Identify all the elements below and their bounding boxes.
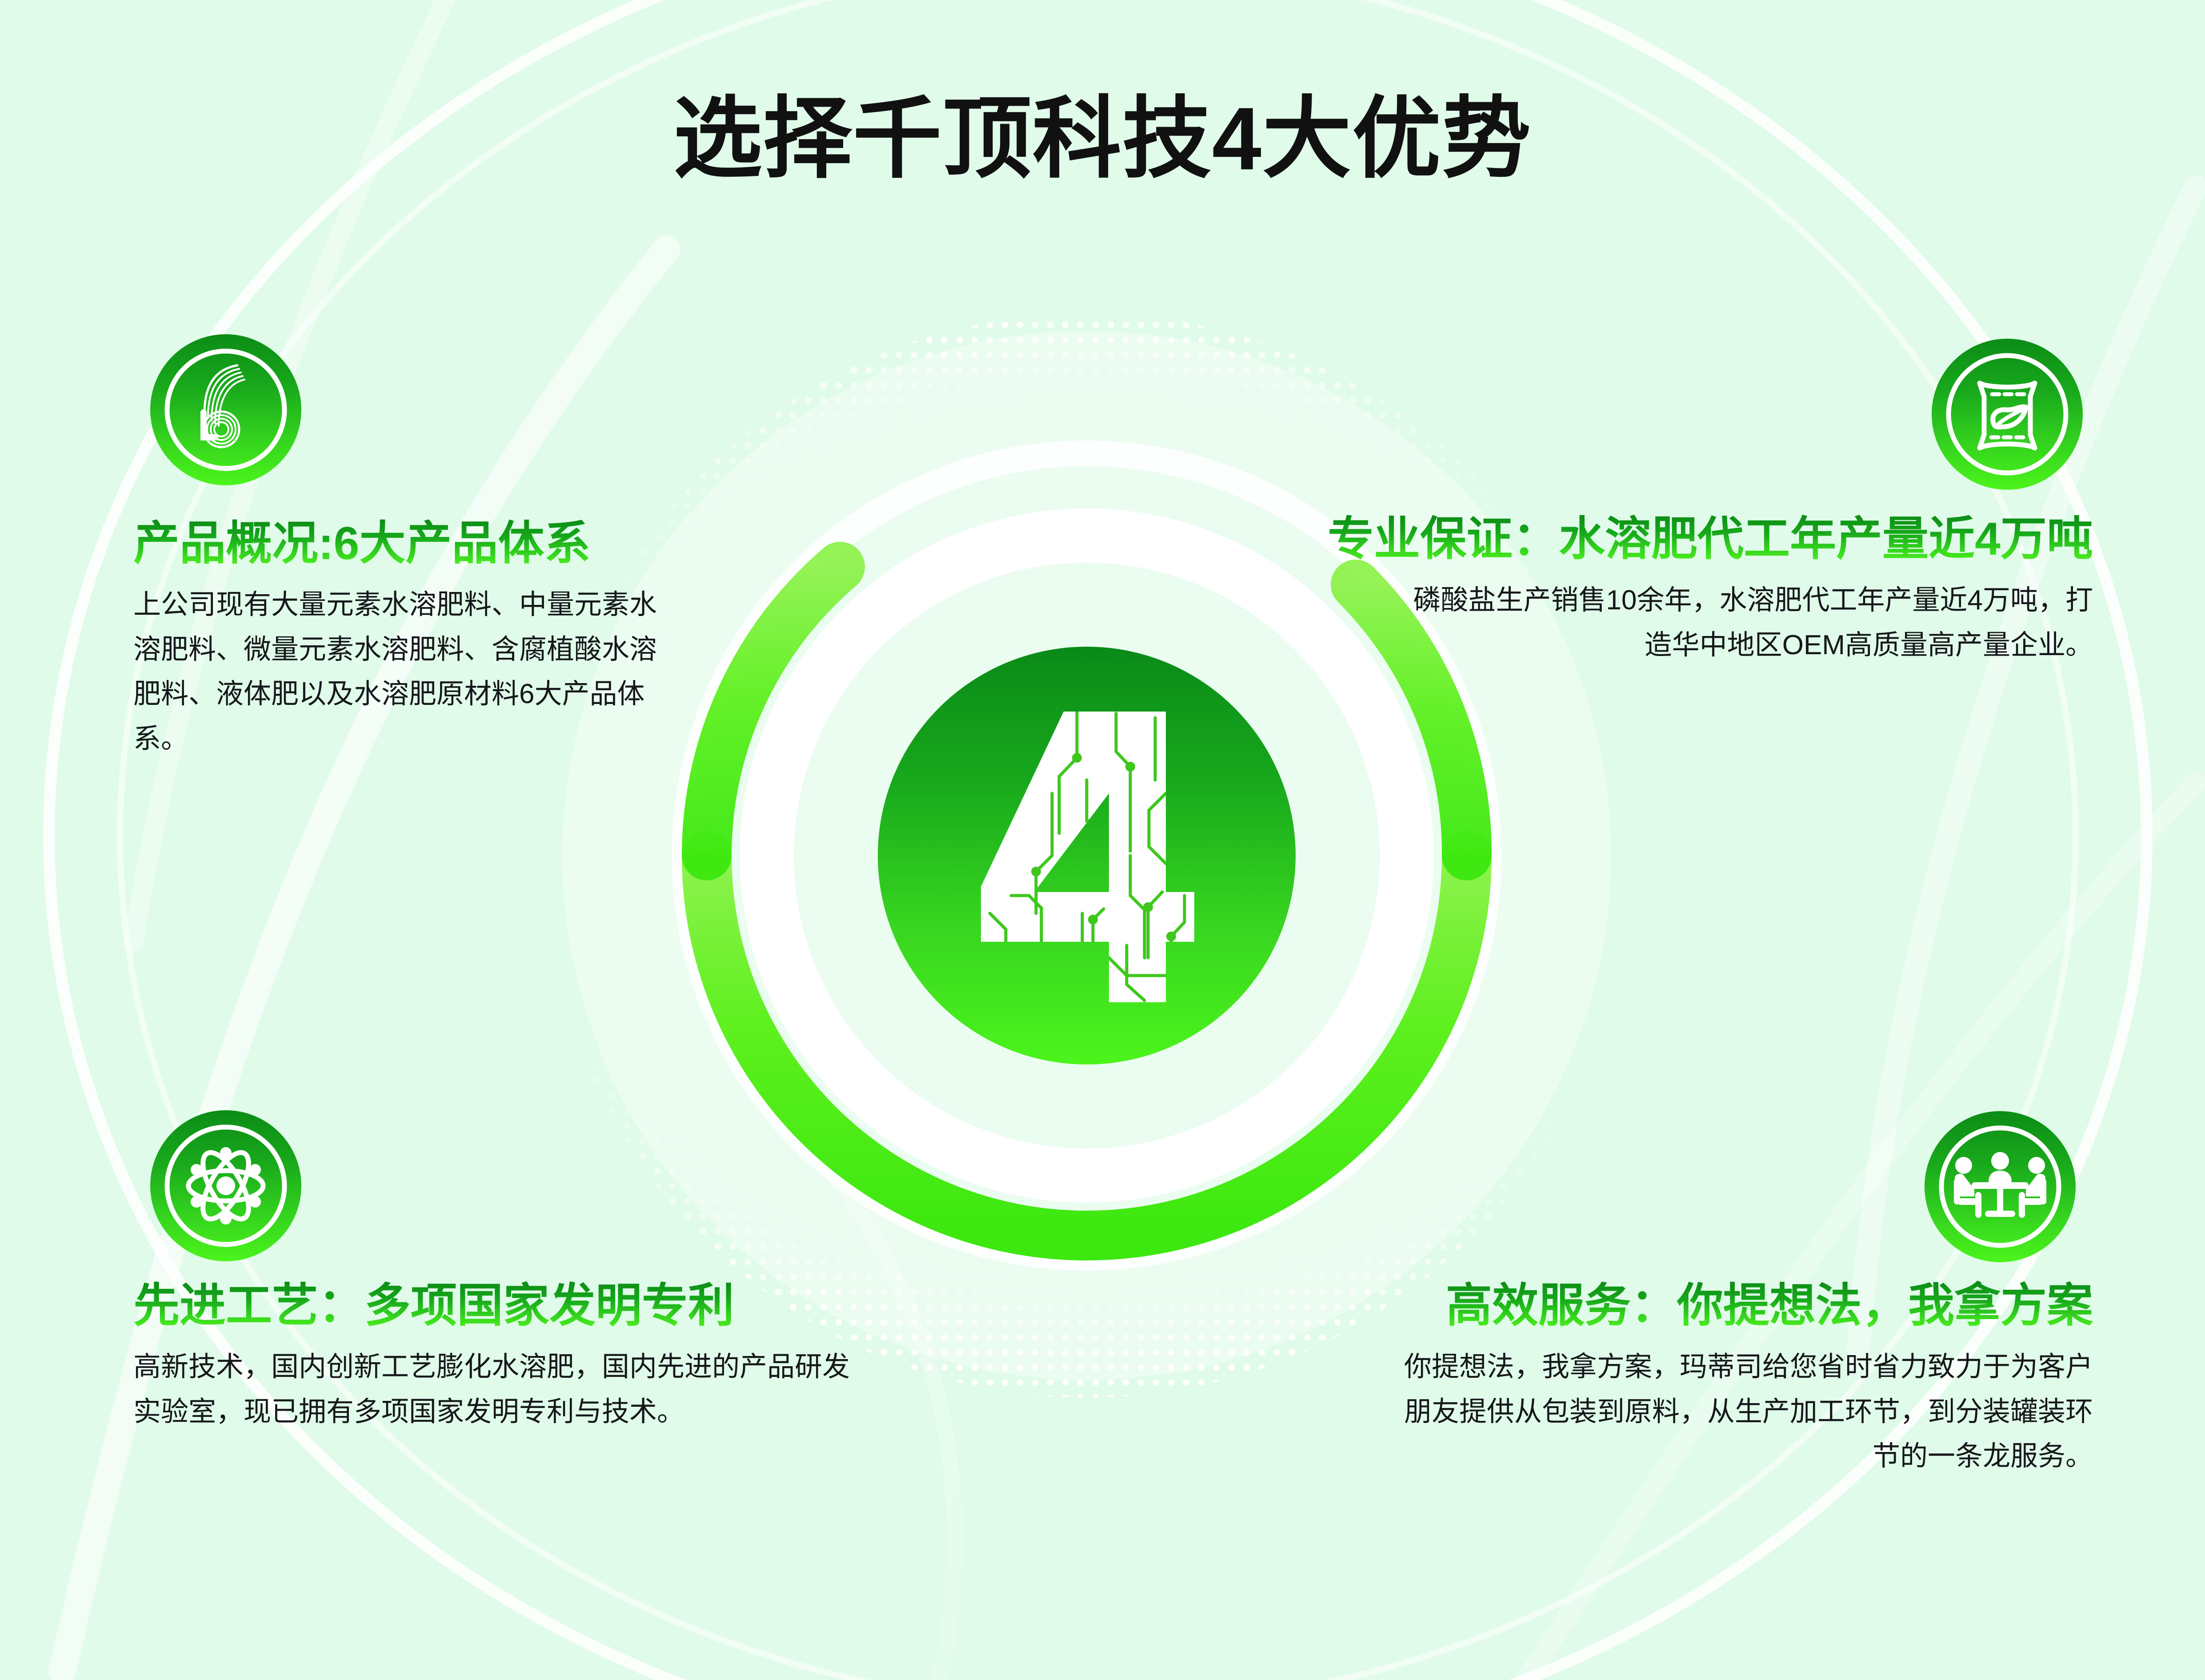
advantage-block-bottom-right: 高效服务：你提想法，我拿方案 你提想法，我拿方案，玛蒂司给您省时省力致力于为客户… <box>1346 1280 2093 1479</box>
hero-number-four-glyph <box>878 647 1296 1064</box>
advantage-icon-bottom-right[interactable] <box>1925 1111 2076 1262</box>
page-title: 选择千顶科技4大优势 <box>0 92 2205 186</box>
advantage-heading: 产品概况:6大产品体系 <box>133 518 684 569</box>
advantage-block-bottom-left: 先进工艺：多项国家发明专利 高新技术，国内创新工艺膨化水溶肥，国内先进的产品研发… <box>133 1280 880 1434</box>
advantage-heading: 高效服务：你提想法，我拿方案 <box>1346 1280 2093 1332</box>
meeting-table-people-icon <box>1925 1111 2076 1262</box>
advantage-icon-top-left[interactable] <box>150 334 301 485</box>
advantage-body: 磷酸盐生产销售10余年，水溶肥代工年产量近4万吨，打造华中地区OEM高质量高产量… <box>1391 578 2093 668</box>
infographic-canvas: 选择千顶科技4大优势 <box>0 0 2205 1680</box>
atom-icon <box>150 1110 301 1261</box>
advantage-body: 高新技术，国内创新工艺膨化水溶肥，国内先进的产品研发实验室，现已拥有多项国家发明… <box>133 1345 871 1434</box>
advantage-heading: 先进工艺：多项国家发明专利 <box>133 1280 880 1332</box>
fertilizer-bag-icon <box>1932 339 2083 490</box>
advantage-icon-top-right[interactable] <box>1932 339 2083 490</box>
advantage-body: 上公司现有大量元素水溶肥料、中量元素水溶肥料、微量元素水溶肥料、含腐植酸水溶肥料… <box>133 583 673 761</box>
hero-number-badge <box>878 647 1296 1064</box>
advantage-block-top-right: 专业保证：水溶肥代工年产量近4万吨 磷酸盐生产销售10余年，水溶肥代工年产量近4… <box>1311 513 2093 668</box>
advantage-body: 你提想法，我拿方案，玛蒂司给您省时省力致力于为客户朋友提供从包装到原料，从生产加… <box>1386 1345 2093 1479</box>
advantage-icon-bottom-left[interactable] <box>150 1110 301 1261</box>
number-six-rings-icon <box>150 334 301 485</box>
advantage-block-top-left: 产品概况:6大产品体系 上公司现有大量元素水溶肥料、中量元素水溶肥料、微量元素水… <box>133 518 684 761</box>
advantage-heading: 专业保证：水溶肥代工年产量近4万吨 <box>1311 513 2093 565</box>
